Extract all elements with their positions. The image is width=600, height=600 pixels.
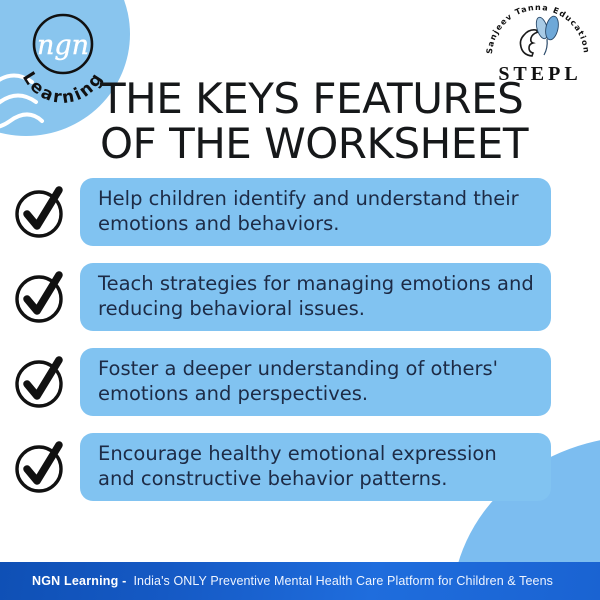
feature-text: Teach strategies for managing emotions a…	[98, 272, 534, 321]
poster-canvas: ngn Learning Sanjeev Tanna Education STE…	[0, 0, 600, 600]
list-item: Encourage healthy emotional expression a…	[0, 431, 600, 503]
feature-text: Encourage healthy emotional expression a…	[98, 442, 497, 491]
feature-text: Foster a deeper understanding of others'…	[98, 357, 498, 406]
page-title-line-2: OF THE WORKSHEET	[100, 121, 530, 166]
feature-bubble: Teach strategies for managing emotions a…	[80, 263, 551, 330]
logo-word-text: Learning	[18, 68, 108, 108]
feature-text-line-2: and constructive behavior patterns.	[98, 467, 447, 490]
footer-brand-label: NGN Learning -	[32, 574, 126, 588]
footer-bar: NGN Learning - India's ONLY Preventive M…	[0, 562, 600, 600]
feature-text-line-1: Foster a deeper understanding of others'	[98, 357, 498, 380]
list-item: Teach strategies for managing emotions a…	[0, 261, 600, 333]
feature-text-line-2: emotions and perspectives.	[98, 382, 368, 405]
check-circle-icon	[12, 268, 70, 326]
feature-text-line-2: reducing behavioral issues.	[98, 297, 365, 320]
feature-text-line-1: Teach strategies for managing emotions a…	[98, 272, 534, 295]
features-list: Help children identify and understand th…	[0, 176, 600, 516]
logo-mark-text: ngn	[37, 30, 89, 61]
head-profile-with-leaves-icon	[520, 15, 560, 56]
footer-tagline: India's ONLY Preventive Mental Health Ca…	[133, 574, 553, 588]
feature-text-line-2: emotions and behaviors.	[98, 212, 339, 235]
check-circle-icon	[12, 353, 70, 411]
list-item: Foster a deeper understanding of others'…	[0, 346, 600, 418]
feature-bubble: Encourage healthy emotional expression a…	[80, 433, 551, 500]
feature-bubble: Foster a deeper understanding of others'…	[80, 348, 551, 415]
check-circle-icon	[12, 183, 70, 241]
feature-text-line-1: Help children identify and understand th…	[98, 187, 519, 210]
feature-bubble: Help children identify and understand th…	[80, 178, 551, 245]
feature-text-line-1: Encourage healthy emotional expression	[98, 442, 497, 465]
check-circle-icon	[12, 438, 70, 496]
page-title: THE KEYS FEATURES OF THE WORKSHEET	[100, 76, 530, 167]
page-title-line-1: THE KEYS FEATURES	[100, 76, 530, 121]
feature-text: Help children identify and understand th…	[98, 187, 519, 236]
list-item: Help children identify and understand th…	[0, 176, 600, 248]
